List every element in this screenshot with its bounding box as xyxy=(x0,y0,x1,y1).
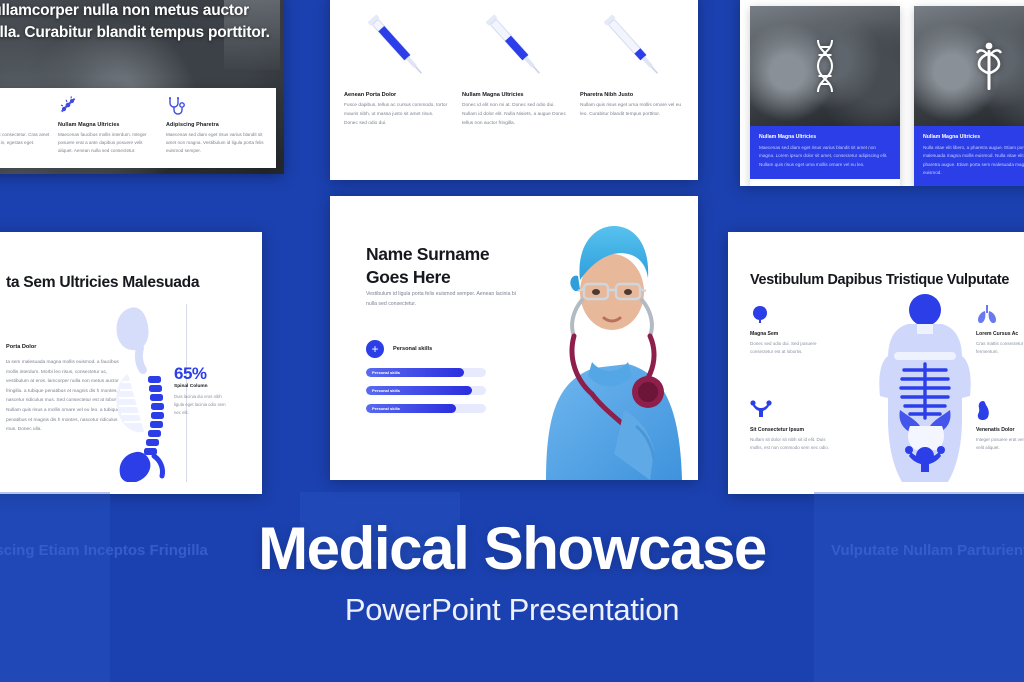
syringe-heading: Nullam Magna Ultricies xyxy=(462,92,566,98)
hero-banner: piscing Etiam Inceptos Fringilla Vulputa… xyxy=(0,492,1024,682)
slide-top-right[interactable]: Nullam Magna Ultricies Maecenas sed diam… xyxy=(740,0,1024,186)
skill-bar-label: Personal skills xyxy=(366,388,400,393)
anatomy-heading: Magna Sem xyxy=(750,331,834,337)
anatomy-body: Donec sed odio dui. Sed posuere consecte… xyxy=(750,340,834,357)
feature-body: em lacinia bibendum nec consectetur. Cra… xyxy=(0,131,50,147)
skills-heading: Personal skills xyxy=(393,346,432,352)
syringe-column[interactable]: Aenean Porta Dolor Fusce dapibus, tellus… xyxy=(344,2,448,170)
hero-title: Medical Showcase xyxy=(0,514,1024,583)
anatomy-body: Cras mattis consectetur purus sit amet f… xyxy=(976,340,1024,357)
skill-bar-list: Personal skills Personal skills Personal… xyxy=(366,368,486,413)
feature-body: Maecenas faucibus mollis interdum. Integ… xyxy=(58,131,158,155)
anatomy-body: Integer posuere erat venenatis dapibus v… xyxy=(976,436,1024,453)
hero-subtitle: PowerPoint Presentation xyxy=(0,592,1024,628)
anatomy-item[interactable]: Lorem Cursus Ac Cras mattis consectetur … xyxy=(976,304,1024,357)
bacteria-icon xyxy=(58,96,158,116)
anatomy-body: Nullam sit dolor sit nibh sit id elit. D… xyxy=(750,436,834,453)
skill-bar-label: Personal skills xyxy=(366,370,400,375)
slide-top-center[interactable]: Aenean Porta Dolor Fusce dapibus, tellus… xyxy=(330,0,698,180)
slide-mid-left-subheading: Porta Dolor xyxy=(6,344,36,350)
slide-mid-center[interactable]: Name Surname Goes Here Vestibulum id lig… xyxy=(330,196,698,480)
stat-label: Spinal Column xyxy=(174,384,208,389)
syringe-body: Nullam quis risus eget urna mollis ornar… xyxy=(580,102,684,120)
stat-note: Duis lacinia dui eros nibh ligula eget l… xyxy=(174,393,226,417)
surgery-photo xyxy=(914,6,1024,126)
syringe-heading: Aenean Porta Dolor xyxy=(344,92,448,98)
lungs-icon xyxy=(976,304,1024,326)
syringe-heading: Pharetra Nibh Justo xyxy=(580,92,684,98)
feature-item[interactable]: Nullam Magna Ultricies Maecenas faucibus… xyxy=(58,96,158,162)
syringe-body: Donec id elit non mi at. Donec sed odio … xyxy=(462,102,566,129)
feature-heading: Nullam Magna Ultricies xyxy=(58,122,158,128)
photo-card[interactable]: Nullam Magna Ultricies Nulla vitae elit … xyxy=(914,6,1024,186)
human-anatomy-illustration xyxy=(870,294,980,484)
skill-bar[interactable]: Personal skills xyxy=(366,368,486,377)
anatomy-item[interactable]: Magna Sem Donec sed odio dui. Sed posuer… xyxy=(750,304,834,357)
stat-value: 65% xyxy=(174,364,207,384)
dna-helix-icon xyxy=(812,38,838,94)
syringe-icon xyxy=(462,2,566,88)
anatomy-item[interactable]: Venenatis Dolor Integer posuere erat ven… xyxy=(976,400,1024,453)
skills-header[interactable]: + Personal skills xyxy=(366,340,432,358)
slide-mid-right[interactable]: Vestibulum Dapibus Tristique Vulputate M… xyxy=(728,232,1024,494)
syringe-icon xyxy=(344,2,448,88)
surgery-photo xyxy=(750,6,900,126)
person-name-line2: Goes Here xyxy=(366,266,489,289)
person-name: Name Surname Goes Here xyxy=(366,243,489,289)
skill-bar[interactable]: Personal skills xyxy=(366,404,486,413)
slide-mid-right-title: Vestibulum Dapibus Tristique Vulputate xyxy=(750,272,1009,288)
photo-card[interactable]: Nullam Magna Ultricies Maecenas sed diam… xyxy=(750,6,900,186)
slide-top-left-caption: nec ullamcorper nulla non metus auctor f… xyxy=(0,0,284,44)
feature-item[interactable]: Adipiscing Pharetra Maecenas sed diam eg… xyxy=(166,96,266,162)
photo-card-heading: Nullam Magna Ultricies xyxy=(759,134,891,140)
feature-heading: ris Elit Sit xyxy=(0,122,50,128)
stomach-icon xyxy=(976,400,1024,422)
slide-mid-left[interactable]: ta Sem Ultricies Malesuada Porta Dolor t… xyxy=(0,232,262,494)
caduceus-icon xyxy=(971,40,1007,92)
doctor-portrait-photo xyxy=(516,196,698,480)
syringe-icon xyxy=(580,2,684,88)
skill-bar-label: Personal skills xyxy=(366,406,400,411)
stethoscope-icon xyxy=(166,96,266,116)
spinal-column-illustration xyxy=(104,302,194,482)
slide-top-left-feature-card[interactable]: ris Elit Sit em lacinia bibendum nec con… xyxy=(0,88,276,168)
anatomy-heading: Venenatis Dolor xyxy=(976,427,1024,433)
photo-card-body: Nulla vitae elit libero, a pharetra augu… xyxy=(923,144,1024,178)
photo-card-body: Maecenas sed diam eget risus varius blan… xyxy=(759,144,891,169)
brain-icon xyxy=(750,304,834,326)
feature-heading: Adipiscing Pharetra xyxy=(166,122,266,128)
syringe-body: Fusce dapibus, tellus ac cursus commodo,… xyxy=(344,102,448,129)
photo-card-heading: Nullam Magna Ultricies xyxy=(923,134,1024,140)
anatomy-heading: Lorem Cursus Ac xyxy=(976,331,1024,337)
person-name-line1: Name Surname xyxy=(366,243,489,266)
uterus-icon xyxy=(750,400,834,422)
syringe-column[interactable]: Pharetra Nibh Justo Nullam quis risus eg… xyxy=(580,2,684,170)
feature-body: Maecenas sed diam eget risus varius blan… xyxy=(166,131,266,155)
person-description: Vestibulum id ligula porta felis euismod… xyxy=(366,289,536,309)
anatomy-heading: Sit Consectetur Ipsum xyxy=(750,427,834,433)
skill-bar[interactable]: Personal skills xyxy=(366,386,486,395)
dna-icon xyxy=(0,96,50,116)
poster-stage: nec ullamcorper nulla non metus auctor f… xyxy=(0,0,1024,682)
plus-icon[interactable]: + xyxy=(366,340,384,358)
slide-mid-left-title: ta Sem Ultricies Malesuada xyxy=(6,274,199,292)
syringe-column[interactable]: Nullam Magna Ultricies Donec id elit non… xyxy=(462,2,566,170)
anatomy-item[interactable]: Sit Consectetur Ipsum Nullam sit dolor s… xyxy=(750,400,834,453)
feature-item[interactable]: ris Elit Sit em lacinia bibendum nec con… xyxy=(0,96,50,162)
